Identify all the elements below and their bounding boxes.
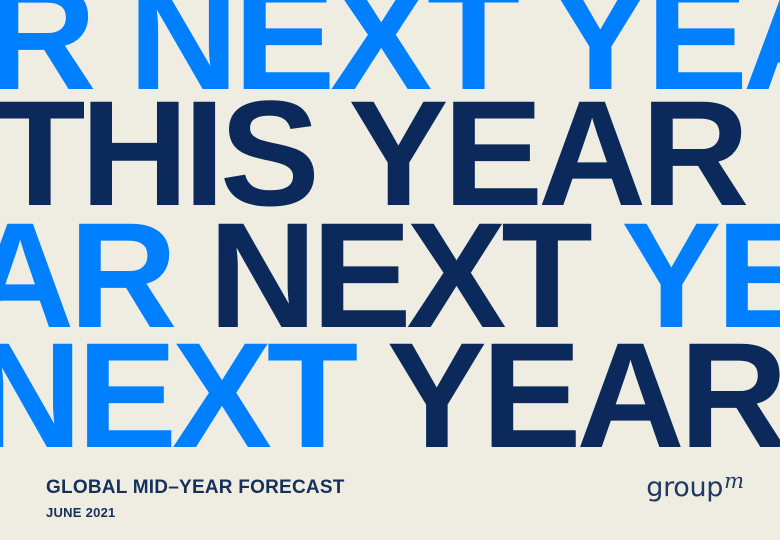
headline-row-4: NEXT YEAR — [0, 320, 780, 450]
page-title: GLOBAL MID–YEAR FORECAST — [46, 478, 345, 497]
slide-canvas: R NEXT YEA THIS YEAR AR NEXT YE NEXT YEA… — [0, 0, 780, 540]
footer-bar: GLOBAL MID–YEAR FORECAST JUNE 2021 group… — [0, 450, 780, 540]
groupm-logo: groupm — [646, 474, 744, 501]
logo-m-mark: m — [724, 471, 744, 492]
logo-wordmark: group — [646, 474, 723, 501]
page-subtitle-date: JUNE 2021 — [46, 506, 345, 519]
footer-text-group: GLOBAL MID–YEAR FORECAST JUNE 2021 — [46, 478, 345, 519]
headline-row-4-segment-blue: NEXT — [0, 311, 387, 450]
headline-row-4-segment-navy: YEAR — [387, 311, 780, 450]
kinetic-headline-block: R NEXT YEA THIS YEAR AR NEXT YE NEXT YEA… — [0, 0, 780, 450]
